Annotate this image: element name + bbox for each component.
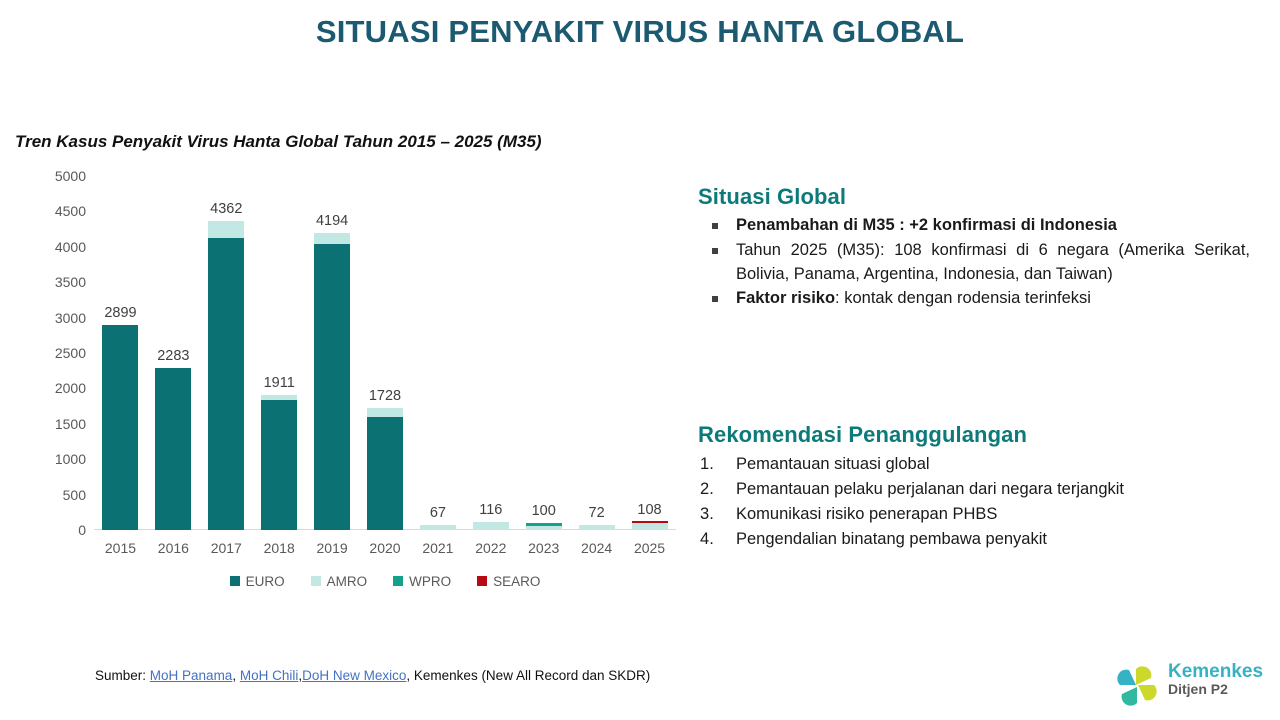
situasi-global-list: Penambahan di M35 : +2 konfirmasi di Ind… bbox=[698, 214, 1250, 311]
rekomendasi-section: Rekomendasi Penanggulangan Pemantauan si… bbox=[698, 422, 1250, 552]
bar-stack bbox=[102, 325, 138, 530]
source-separator: , bbox=[232, 668, 240, 683]
bar-segment-euro bbox=[367, 417, 403, 530]
source-line: Sumber: MoH Panama, MoH Chili,DoH New Me… bbox=[95, 668, 650, 683]
bar-value-label: 4194 bbox=[306, 213, 359, 229]
situasi-bullet-item: Tahun 2025 (M35): 108 konfirmasi di 6 ne… bbox=[698, 239, 1250, 287]
kemenkes-logo-line2: Ditjen P2 bbox=[1168, 682, 1263, 697]
page-title: SITUASI PENYAKIT VIRUS HANTA GLOBAL bbox=[0, 14, 1280, 50]
bar-column[interactable]: 67 bbox=[411, 176, 464, 530]
bar-segment-amro bbox=[632, 523, 668, 530]
y-axis-tick: 4000 bbox=[14, 239, 86, 255]
rekomendasi-item: Komunikasi risiko penerapan PHBS bbox=[698, 502, 1250, 527]
plot-area: 2899228343621911419417286711610072108 bbox=[94, 176, 676, 530]
kemenkes-flower-icon bbox=[1112, 660, 1164, 710]
legend-label: EURO bbox=[246, 574, 285, 589]
x-axis-tick: 2018 bbox=[253, 540, 306, 562]
bar-segment-euro bbox=[261, 400, 297, 530]
x-axis-tick: 2021 bbox=[411, 540, 464, 562]
bar-column[interactable]: 116 bbox=[464, 176, 517, 530]
y-axis-tick: 2500 bbox=[14, 345, 86, 361]
situasi-bullet-item: Penambahan di M35 : +2 konfirmasi di Ind… bbox=[698, 214, 1250, 238]
hanta-virus-bar-chart: 5000450040003500300025002000150010005000… bbox=[14, 168, 684, 598]
x-axis-tick: 2017 bbox=[200, 540, 253, 562]
bar-group: 2899228343621911419417286711610072108 bbox=[94, 176, 676, 530]
bar-value-label: 108 bbox=[623, 502, 676, 518]
rekomendasi-list: Pemantauan situasi globalPemantauan pela… bbox=[698, 452, 1250, 552]
source-link[interactable]: MoH Chili bbox=[240, 668, 299, 683]
y-axis-tick: 5000 bbox=[14, 168, 86, 184]
x-axis-tick: 2015 bbox=[94, 540, 147, 562]
y-axis-tick: 2000 bbox=[14, 380, 86, 396]
legend-label: AMRO bbox=[327, 574, 368, 589]
x-axis-tick: 2020 bbox=[359, 540, 412, 562]
legend-item-searo[interactable]: SEARO bbox=[477, 574, 540, 589]
bar-segment-amro bbox=[579, 525, 615, 530]
x-axis-tick: 2025 bbox=[623, 540, 676, 562]
x-axis-tick: 2016 bbox=[147, 540, 200, 562]
y-axis-tick: 500 bbox=[14, 487, 86, 503]
y-axis-tick: 1000 bbox=[14, 451, 86, 467]
rekomendasi-item: Pemantauan situasi global bbox=[698, 452, 1250, 477]
situasi-bullet-text: : kontak dengan rodensia terinfeksi bbox=[835, 289, 1091, 307]
source-prefix: Sumber: bbox=[95, 668, 150, 683]
y-axis-tick: 0 bbox=[14, 522, 86, 538]
kemenkes-logo-line1: Kemenkes bbox=[1168, 662, 1263, 682]
chart-subtitle: Tren Kasus Penyakit Virus Hanta Global T… bbox=[15, 132, 542, 152]
situasi-bullet-strong: Faktor risiko bbox=[736, 289, 835, 307]
y-axis-tick: 3500 bbox=[14, 274, 86, 290]
bar-stack bbox=[526, 523, 562, 530]
bar-stack bbox=[632, 521, 668, 530]
rekomendasi-heading: Rekomendasi Penanggulangan bbox=[698, 422, 1250, 448]
legend-item-wpro[interactable]: WPRO bbox=[393, 574, 451, 589]
bar-column[interactable]: 1911 bbox=[253, 176, 306, 530]
situasi-bullet-text: Tahun 2025 (M35): 108 konfirmasi di 6 ne… bbox=[736, 241, 1250, 283]
bar-value-label: 67 bbox=[411, 505, 464, 521]
legend-label: SEARO bbox=[493, 574, 540, 589]
kemenkes-logo: Kemenkes Ditjen P2 bbox=[1112, 660, 1272, 712]
y-axis-labels: 5000450040003500300025002000150010005000 bbox=[14, 168, 86, 530]
bar-segment-euro bbox=[155, 368, 191, 530]
bar-column[interactable]: 108 bbox=[623, 176, 676, 530]
slide: SITUASI PENYAKIT VIRUS HANTA GLOBAL Tren… bbox=[0, 0, 1280, 720]
rekomendasi-item: Pengendalian binatang pembawa penyakit bbox=[698, 527, 1250, 552]
bar-value-label: 116 bbox=[464, 502, 517, 518]
bar-column[interactable]: 4194 bbox=[306, 176, 359, 530]
bar-segment-amro bbox=[314, 233, 350, 244]
bar-value-label: 100 bbox=[517, 503, 570, 519]
bar-column[interactable]: 4362 bbox=[200, 176, 253, 530]
bar-stack bbox=[420, 525, 456, 530]
bar-segment-amro bbox=[208, 221, 244, 238]
source-suffix: , Kemenkes (New All Record dan SKDR) bbox=[406, 668, 650, 683]
bar-value-label: 72 bbox=[570, 505, 623, 521]
bar-column[interactable]: 72 bbox=[570, 176, 623, 530]
rekomendasi-item: Pemantauan pelaku perjalanan dari negara… bbox=[698, 477, 1250, 502]
bar-segment-amro bbox=[526, 526, 562, 530]
legend-label: WPRO bbox=[409, 574, 451, 589]
bar-column[interactable]: 1728 bbox=[359, 176, 412, 530]
legend-swatch-icon bbox=[477, 576, 487, 586]
situasi-global-section: Situasi Global Penambahan di M35 : +2 ko… bbox=[698, 184, 1250, 312]
bar-stack bbox=[261, 395, 297, 530]
source-link[interactable]: MoH Panama bbox=[150, 668, 233, 683]
x-axis-labels: 2015201620172018201920202021202220232024… bbox=[94, 540, 676, 562]
bar-value-label: 2899 bbox=[94, 305, 147, 321]
kemenkes-logo-text: Kemenkes Ditjen P2 bbox=[1168, 662, 1263, 697]
bar-segment-amro bbox=[473, 522, 509, 530]
situasi-global-heading: Situasi Global bbox=[698, 184, 1250, 210]
legend-item-euro[interactable]: EURO bbox=[230, 574, 285, 589]
bar-segment-amro bbox=[420, 525, 456, 530]
y-axis-tick: 3000 bbox=[14, 310, 86, 326]
bar-segment-amro bbox=[367, 408, 403, 417]
x-axis-tick: 2019 bbox=[306, 540, 359, 562]
chart-legend: EUROAMROWPROSEARO bbox=[94, 570, 676, 592]
bar-stack bbox=[367, 408, 403, 530]
y-axis-tick: 4500 bbox=[14, 203, 86, 219]
bar-stack bbox=[579, 525, 615, 530]
bar-segment-euro bbox=[208, 238, 244, 530]
bar-value-label: 2283 bbox=[147, 348, 200, 364]
legend-item-amro[interactable]: AMRO bbox=[311, 574, 368, 589]
bar-value-label: 4362 bbox=[200, 201, 253, 217]
y-axis-tick: 1500 bbox=[14, 416, 86, 432]
legend-swatch-icon bbox=[230, 576, 240, 586]
x-axis-tick: 2022 bbox=[464, 540, 517, 562]
situasi-bullet-strong: Penambahan di M35 : +2 konfirmasi di Ind… bbox=[736, 216, 1117, 234]
legend-swatch-icon bbox=[311, 576, 321, 586]
bar-column[interactable]: 2283 bbox=[147, 176, 200, 530]
bar-stack bbox=[155, 368, 191, 530]
bar-value-label: 1911 bbox=[253, 375, 306, 391]
legend-swatch-icon bbox=[393, 576, 403, 586]
bar-column[interactable]: 100 bbox=[517, 176, 570, 530]
bar-value-label: 1728 bbox=[359, 388, 412, 404]
bar-column[interactable]: 2899 bbox=[94, 176, 147, 530]
x-axis-tick: 2023 bbox=[517, 540, 570, 562]
bar-segment-euro bbox=[314, 244, 350, 530]
situasi-bullet-item: Faktor risiko: kontak dengan rodensia te… bbox=[698, 287, 1250, 311]
source-link[interactable]: DoH New Mexico bbox=[302, 668, 406, 683]
bar-segment-euro bbox=[102, 325, 138, 530]
bar-stack bbox=[314, 233, 350, 530]
x-axis-tick: 2024 bbox=[570, 540, 623, 562]
bar-stack bbox=[208, 221, 244, 530]
bar-stack bbox=[473, 522, 509, 530]
